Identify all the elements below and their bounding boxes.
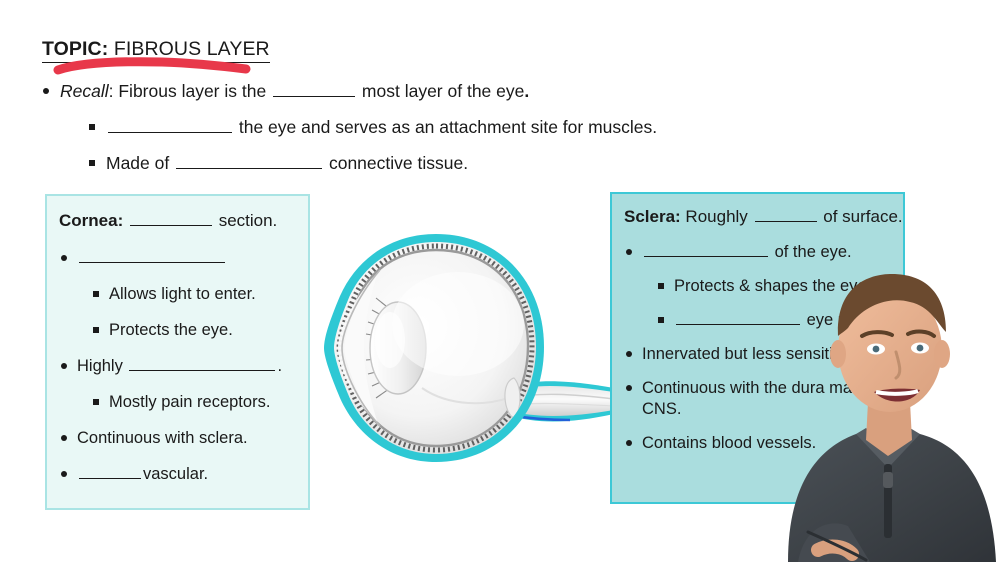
bullet-square-icon — [89, 124, 95, 130]
presenter-ear-left — [830, 340, 846, 368]
bullet-dot-icon — [626, 440, 632, 446]
bullet-dot-icon — [626, 351, 632, 357]
cornea-item-3-text-2: . — [277, 357, 282, 375]
intro-bullet-0-text-3: most layer of the eye — [357, 81, 524, 101]
intro-bullet-2-text-2: connective tissue. — [324, 153, 468, 173]
cornea-item-4: Mostly pain receptors. — [91, 392, 298, 413]
bullet-square-icon — [89, 160, 95, 166]
sclera-item-0-blank-0[interactable] — [644, 242, 768, 257]
cornea-item-5: Continuous with sclera. — [59, 428, 298, 449]
bullet-square-icon — [93, 399, 99, 405]
cornea-heading-pre — [123, 211, 128, 230]
cornea-heading: Cornea: section. — [59, 210, 298, 232]
sclera-heading: Sclera: Roughly of surface. — [624, 206, 895, 228]
bullet-square-icon — [658, 317, 664, 323]
bullet-square-icon — [93, 291, 99, 297]
cornea-heading-post: section. — [214, 211, 277, 230]
cornea-item-2: Protects the eye. — [91, 320, 298, 341]
presenter-zip-pull — [883, 472, 893, 488]
cornea-item-6-text-1: vascular. — [143, 465, 208, 483]
bullet-dot-icon — [626, 249, 632, 255]
cornea-item-6-blank-0[interactable] — [79, 464, 141, 479]
cornea-heading-label: Cornea: — [59, 211, 123, 230]
bullet-dot-icon — [61, 435, 67, 441]
intro-bullet-1-text-1: the eye and serves as an attachment site… — [234, 117, 657, 137]
sclera-heading-post: of surface. — [819, 207, 903, 226]
vitreous-highlight — [392, 272, 524, 376]
sclera-heading-pre: Roughly — [681, 207, 753, 226]
cornea-item-0 — [59, 248, 298, 269]
page-title: TOPIC: FIBROUS LAYER — [42, 38, 542, 72]
intro-bullet-0-text-1: : Fibrous layer is the — [109, 81, 271, 101]
intro-bullet-1: the eye and serves as an attachment site… — [86, 116, 740, 138]
title-label: TOPIC: — [42, 38, 108, 60]
cornea-item-2-text-0: Protects the eye. — [109, 321, 233, 339]
cornea-item-5-text-0: Continuous with sclera. — [77, 429, 248, 447]
title-value: FIBROUS LAYER — [108, 38, 269, 60]
intro-bullet-2: Made of connective tissue. — [86, 152, 740, 174]
intro-bullet-0-text-0: Recall — [60, 81, 109, 101]
cornea-item-3-blank-1[interactable] — [129, 356, 275, 371]
bullet-dot-icon — [43, 88, 49, 94]
intro-bullet-2-blank-1[interactable] — [176, 154, 322, 169]
presenter-ear-right — [934, 340, 950, 368]
cornea-item-1: Allows light to enter. — [91, 284, 298, 305]
cornea-heading-blank[interactable] — [130, 211, 212, 226]
cornea-item-3: Highly . — [59, 356, 298, 377]
presenter-video-overlay — [770, 232, 1000, 562]
intro-bullet-list: Recall: Fibrous layer is the most layer … — [40, 80, 740, 188]
sclera-heading-blank[interactable] — [755, 207, 817, 222]
eye-cross-section-diagram — [318, 228, 618, 470]
cornea-info-box: Cornea: section. Allows light to enter.P… — [45, 194, 310, 510]
cornea-item-1-text-0: Allows light to enter. — [109, 285, 256, 303]
bullet-dot-icon — [626, 385, 632, 391]
bullet-dot-icon — [61, 255, 67, 261]
bullet-square-icon — [658, 283, 664, 289]
title-underlined-text: TOPIC: FIBROUS LAYER — [42, 38, 270, 63]
intro-bullet-0-text-4: . — [524, 81, 529, 101]
intro-bullet-2-text-0: Made of — [106, 153, 174, 173]
cornea-item-list: Allows light to enter.Protects the eye.H… — [59, 248, 298, 485]
cornea-item-6: vascular. — [59, 464, 298, 485]
intro-bullet-1-blank-0[interactable] — [108, 118, 232, 133]
intro-bullet-0: Recall: Fibrous layer is the most layer … — [40, 80, 740, 102]
presenter-pupil-right — [917, 345, 924, 352]
cornea-item-0-blank-0[interactable] — [79, 248, 225, 263]
bullet-square-icon — [93, 327, 99, 333]
cornea-item-3-text-0: Highly — [77, 357, 127, 375]
sclera-heading-label: Sclera: — [624, 207, 681, 226]
intro-bullet-0-blank-2[interactable] — [273, 82, 355, 97]
bullet-dot-icon — [61, 471, 67, 477]
bullet-dot-icon — [61, 363, 67, 369]
lecture-slide: TOPIC: FIBROUS LAYER Recall: Fibrous lay… — [0, 0, 1000, 562]
presenter-pupil-left — [873, 346, 880, 353]
cornea-item-4-text-0: Mostly pain receptors. — [109, 393, 270, 411]
